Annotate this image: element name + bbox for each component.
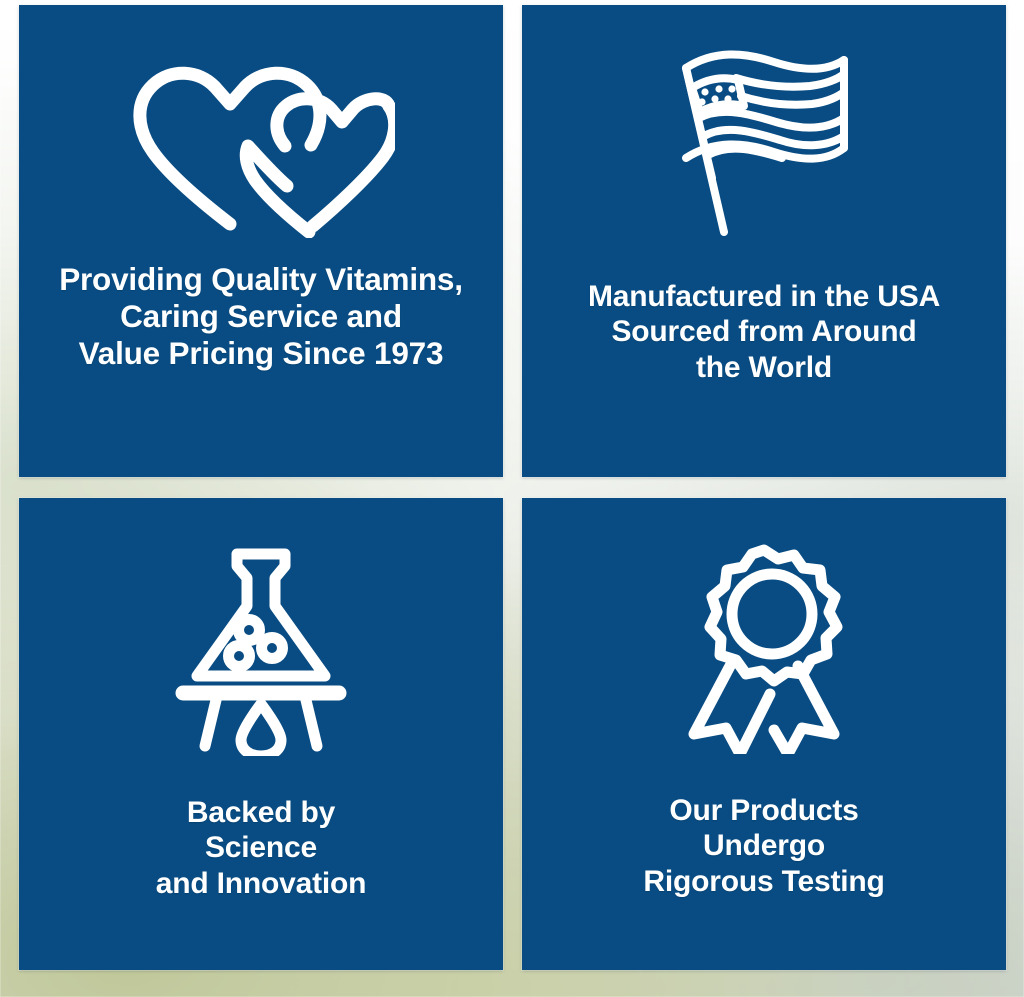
value-prop-line: the World: [532, 350, 996, 385]
value-prop-text: Providing Quality Vitamins, Caring Servi…: [19, 261, 503, 372]
award-ribbon-icon: [522, 498, 1006, 753]
usa-flag-icon: [522, 5, 1006, 243]
value-prop-text: Backed by Science and Innovation: [19, 795, 503, 901]
value-prop-text: Our Products Undergo Rigorous Testing: [522, 793, 1006, 899]
value-prop-line: Rigorous Testing: [532, 864, 996, 899]
value-prop-text: Manufactured in the USA Sourced from Aro…: [522, 279, 1006, 385]
value-prop-line: Manufactured in the USA: [532, 279, 996, 314]
value-prop-line: and Innovation: [29, 866, 493, 901]
value-prop-line: Sourced from Around: [532, 314, 996, 349]
value-props-grid: Providing Quality Vitamins, Caring Servi…: [19, 5, 1006, 992]
value-prop-line: Undergo: [532, 828, 996, 863]
value-prop-line: Providing Quality Vitamins,: [29, 261, 493, 298]
value-prop-line: Value Pricing Since 1973: [29, 335, 493, 372]
value-prop-card-backed-by-science[interactable]: Backed by Science and Innovation: [19, 498, 503, 970]
two-hearts-icon: [19, 5, 503, 243]
value-prop-line: Science: [29, 830, 493, 865]
value-prop-card-quality-vitamins[interactable]: Providing Quality Vitamins, Caring Servi…: [19, 5, 503, 477]
value-prop-line: Backed by: [29, 795, 493, 830]
value-prop-line: Our Products: [532, 793, 996, 828]
value-prop-card-rigorous-testing[interactable]: Our Products Undergo Rigorous Testing: [522, 498, 1006, 970]
value-prop-card-manufactured-usa[interactable]: Manufactured in the USA Sourced from Aro…: [522, 5, 1006, 477]
value-prop-line: Caring Service and: [29, 298, 493, 335]
lab-flask-icon: [19, 498, 503, 753]
